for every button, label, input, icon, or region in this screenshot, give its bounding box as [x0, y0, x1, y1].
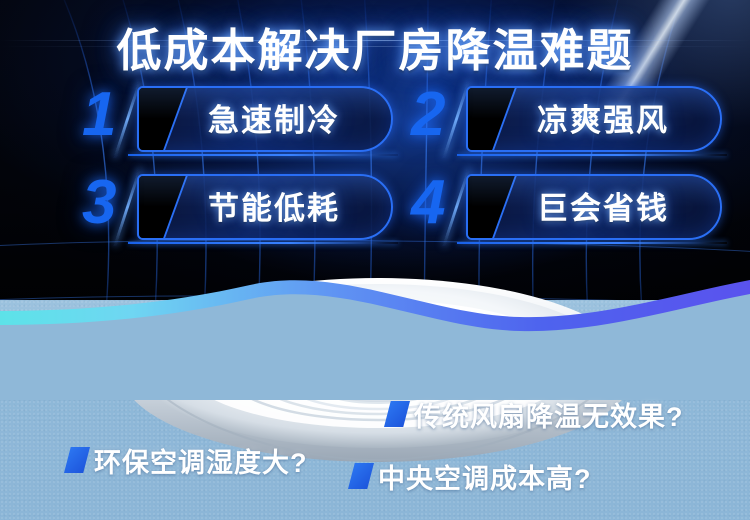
promo-poster: 低成本解决厂房降温难题 1 急速制冷 2 凉爽强风 3	[0, 0, 750, 520]
feature-row-2: 3 节能低耗 4 巨会省钱	[0, 172, 750, 246]
question-item-3: 中央空调成本高?	[348, 456, 592, 496]
question-item-1: 环保空调湿度大?	[64, 440, 308, 480]
feature-item-2[interactable]: 2 凉爽强风	[411, 84, 731, 158]
feature-number: 3	[82, 166, 116, 240]
feature-underline	[457, 154, 727, 156]
feature-underline	[128, 242, 398, 244]
feature-label: 急速制冷	[154, 86, 394, 148]
feature-item-4[interactable]: 4 巨会省钱	[411, 172, 731, 246]
feature-item-3[interactable]: 3 节能低耗	[82, 172, 402, 246]
wave-divider	[0, 255, 750, 400]
accent-marker-icon	[348, 463, 374, 489]
feature-label: 凉爽强风	[483, 86, 723, 148]
feature-number: 2	[411, 78, 445, 152]
page-title: 低成本解决厂房降温难题	[0, 14, 750, 79]
feature-number: 4	[411, 166, 445, 240]
accent-marker-icon	[384, 401, 410, 427]
question-label: 环保空调湿度大?	[94, 441, 308, 480]
feature-item-1[interactable]: 1 急速制冷	[82, 84, 402, 158]
feature-underline	[457, 242, 727, 244]
feature-label: 节能低耗	[154, 174, 394, 236]
feature-list: 1 急速制冷 2 凉爽强风 3 节能低耗	[0, 84, 750, 249]
question-label: 中央空调成本高?	[378, 457, 592, 496]
feature-row-1: 1 急速制冷 2 凉爽强风	[0, 84, 750, 158]
accent-marker-icon	[64, 447, 90, 473]
question-label: 传统风扇降温无效果?	[414, 395, 684, 434]
question-item-2: 传统风扇降温无效果?	[384, 394, 684, 434]
feature-number: 1	[82, 78, 116, 152]
feature-underline	[128, 154, 398, 156]
feature-label: 巨会省钱	[483, 174, 723, 236]
